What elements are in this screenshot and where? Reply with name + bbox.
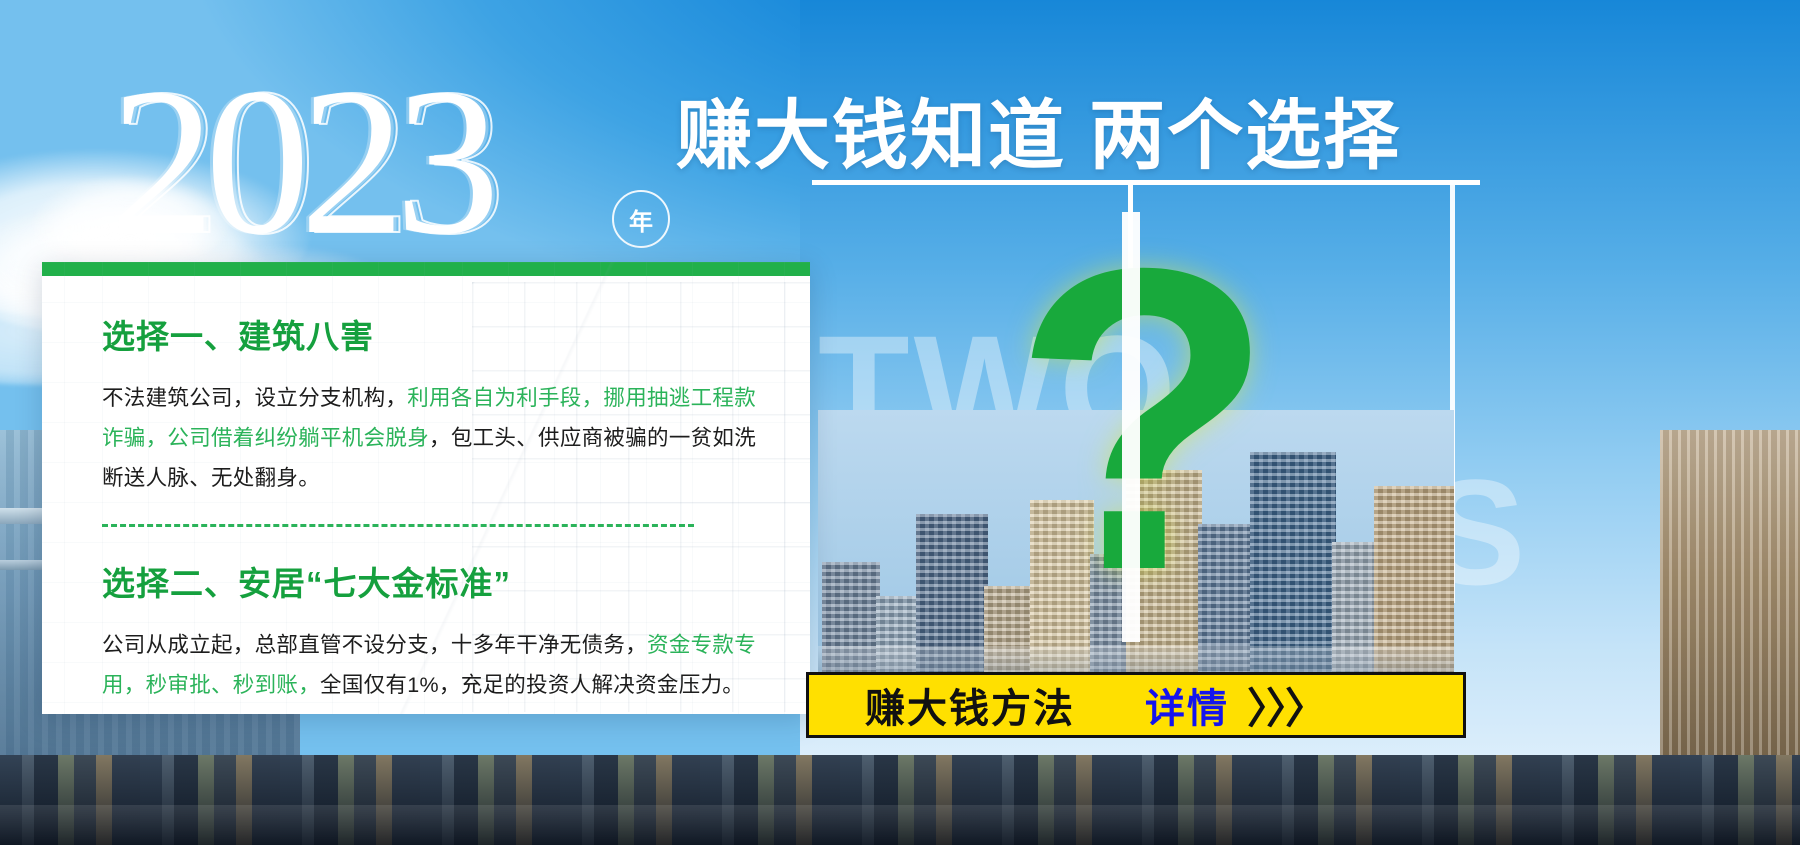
bottom-photo-strip (0, 755, 1800, 845)
page-title: 赚大钱知道 两个选择 (676, 74, 1401, 184)
body-text-plain: 公司从成立起，总部直管不设分支，十多年干净无债务， (102, 633, 647, 657)
water-reflection (0, 805, 1800, 845)
year-suffix-badge: 年 (612, 190, 670, 248)
question-mark-icon: ? (1012, 205, 1275, 635)
question-mark-slit (1122, 212, 1140, 642)
content-card: 选择一、建筑八害 不法建筑公司，设立分支机构，利用各自为利手段，挪用抽逃工程款诈… (42, 262, 810, 714)
cta-details-link[interactable]: 详情 (1145, 676, 1229, 734)
cta-bar[interactable]: 赚大钱方法 详情 〉〉〉 (806, 672, 1466, 738)
section-title-one: 选择一、建筑八害 (102, 310, 764, 358)
poster-canvas: 2023 2023 年 赚大钱知道 两个选择 TWO CHOICES ? 赚大钱… (0, 0, 1800, 845)
cta-main-label: 赚大钱方法 (865, 676, 1075, 734)
body-text-plain: 不法建筑公司，设立分支机构， (102, 386, 407, 410)
body-text-plain: 全国仅有1%，充足的投资人解决资金压力。 (320, 673, 744, 697)
dashed-divider (102, 524, 694, 527)
section-title-two: 选择二、安居“七大金标准” (102, 557, 764, 605)
chevron-right-icon: 〉〉〉 (1247, 675, 1325, 736)
section-body-two: 公司从成立起，总部直管不设分支，十多年干净无债务，资金专款专用，秒审批、秒到账，… (102, 625, 764, 705)
section-body-one: 不法建筑公司，设立分支机构，利用各自为利手段，挪用抽逃工程款诈骗，公司借着纠纷躺… (102, 378, 764, 498)
right-skyline-strip (1660, 430, 1800, 760)
